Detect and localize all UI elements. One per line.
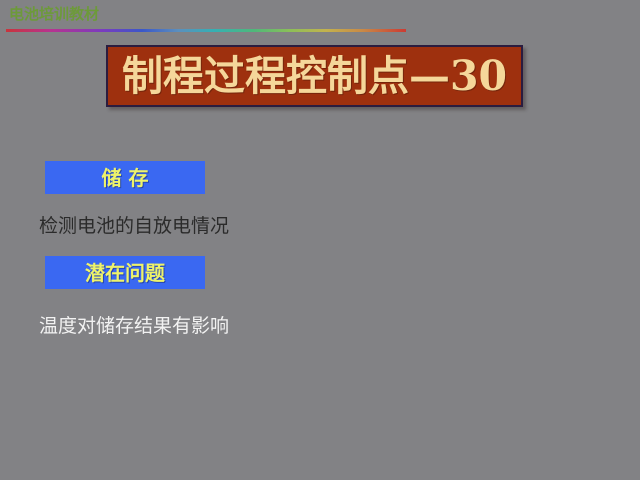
slide-header: 电池培训教材 [0,0,640,34]
presentation-slide: 电池培训教材 制程过程控制点—30 储 存 检测电池的自放电情况 潜在问题 温度… [0,0,640,480]
rainbow-rule-divider [6,29,406,32]
section-body-text-storage: 检测电池的自放电情况 [39,216,229,239]
section-body-text-potential-issue: 温度对储存结果有影响 [39,316,229,339]
slide-title-text: 制程过程控制点—30 [122,56,507,97]
header-title-label: 电池培训教材 [9,6,99,24]
section-label-box-storage: 储 存 [45,161,205,194]
section-label-text-potential-issue: 潜在问题 [85,263,165,283]
section-label-box-potential-issue: 潜在问题 [45,256,205,289]
slide-title-box: 制程过程控制点—30 [106,45,523,107]
section-label-text-storage: 储 存 [102,168,149,188]
